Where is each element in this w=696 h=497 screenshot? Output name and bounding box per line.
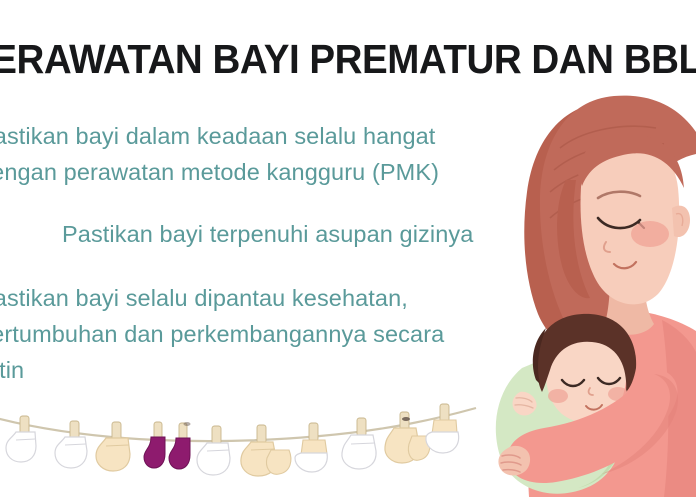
clothesline-item-8 xyxy=(342,418,376,469)
clothesline-item-6 xyxy=(241,425,291,476)
bootie xyxy=(96,438,130,471)
clothesline-item-2 xyxy=(96,422,130,471)
bootie xyxy=(342,435,376,469)
clothespin xyxy=(257,425,266,443)
bootie-behind xyxy=(267,450,291,474)
bootie xyxy=(55,437,87,468)
mother-ear xyxy=(672,206,690,237)
clothespin xyxy=(20,416,29,434)
mother-blush xyxy=(631,221,669,247)
clothespin xyxy=(357,418,366,436)
clothesline-decoration xyxy=(0,386,480,497)
clothesline-item-3 xyxy=(144,422,165,468)
rope-speck xyxy=(402,417,410,421)
clothesline-item-10 xyxy=(426,404,459,453)
baby-blush-left xyxy=(548,389,568,403)
clothespin xyxy=(212,426,221,444)
clothespin xyxy=(440,404,449,422)
bootie xyxy=(426,432,459,453)
sock xyxy=(169,438,190,469)
bootie xyxy=(197,443,230,475)
clothesline-item-1 xyxy=(55,421,87,468)
clothesline-item-4 xyxy=(169,423,190,469)
poster-canvas: PERAWATAN BAYI PREMATUR DAN BBLR Pastika… xyxy=(0,0,696,497)
mother-baby-illustration xyxy=(486,88,696,497)
clothesline-item-5 xyxy=(197,426,230,475)
paragraph-kangaroo-care: Pastikan bayi dalam keadaan selalu hanga… xyxy=(0,118,518,190)
bootie xyxy=(6,432,36,462)
clothesline-item-0 xyxy=(6,416,36,462)
clothesline-item-7 xyxy=(295,423,327,472)
clothespin xyxy=(309,423,318,441)
clothespin xyxy=(154,422,162,439)
bootie xyxy=(295,453,327,472)
clothespin xyxy=(70,421,79,439)
rope-speck-2 xyxy=(184,422,191,426)
clothespin xyxy=(400,412,409,430)
clothespin xyxy=(112,422,121,440)
paragraph-monitoring: Pastikan bayi selalu dipantau kesehatan,… xyxy=(0,280,518,388)
sock xyxy=(144,437,165,468)
page-title: PERAWATAN BAYI PREMATUR DAN BBLR xyxy=(0,36,624,83)
paragraph-nutrition: Pastikan bayi terpenuhi asupan gizinya xyxy=(62,216,532,252)
